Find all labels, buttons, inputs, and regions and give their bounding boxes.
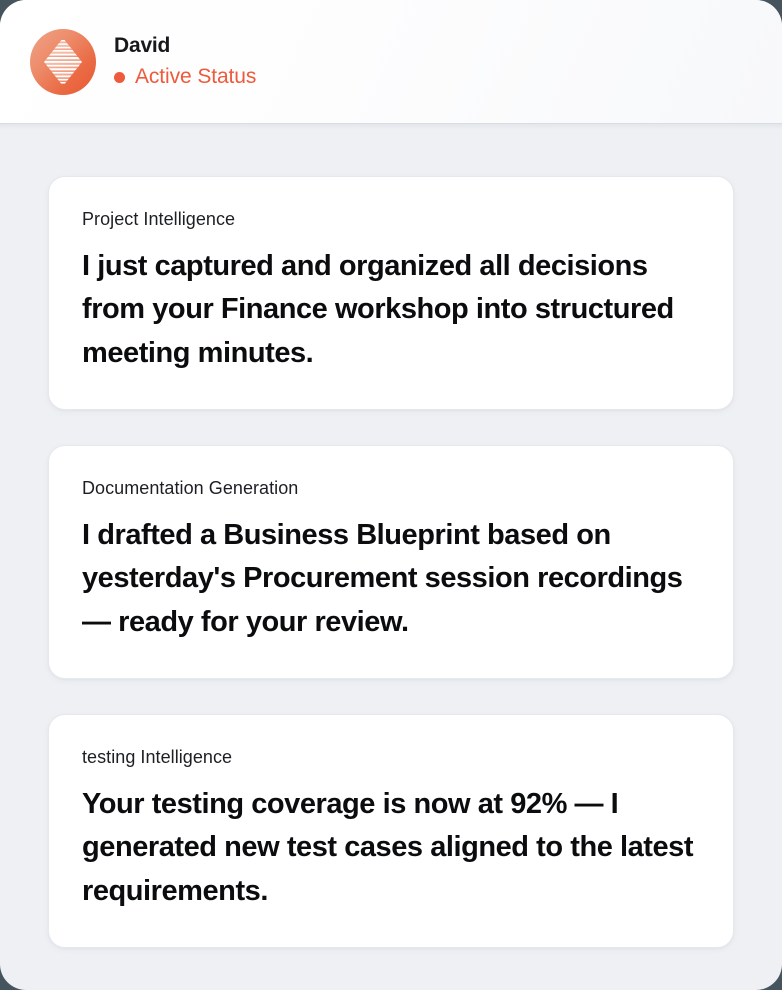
card-category: Documentation Generation: [82, 478, 700, 500]
card-message: Your testing coverage is now at 92% — I …: [82, 783, 700, 914]
updates-feed: Project Intelligence I just captured and…: [0, 124, 782, 948]
update-card[interactable]: Documentation Generation I drafted a Bus…: [48, 445, 734, 679]
card-category: Project Intelligence: [82, 209, 700, 231]
card-message: I just captured and organized all decisi…: [82, 245, 700, 376]
update-card[interactable]: testing Intelligence Your testing covera…: [48, 714, 734, 948]
profile-status-label: Active Status: [135, 65, 256, 89]
update-card[interactable]: Project Intelligence I just captured and…: [48, 176, 734, 410]
card-message: I drafted a Business Blueprint based on …: [82, 514, 700, 645]
app-frame: David Active Status Project Intelligence…: [0, 0, 782, 990]
striped-diamond-avatar-icon: [30, 29, 96, 95]
card-category: testing Intelligence: [82, 747, 700, 769]
avatar[interactable]: [30, 29, 96, 95]
profile-status: Active Status: [114, 65, 256, 89]
profile-name: David: [114, 34, 256, 58]
profile-header: David Active Status: [0, 0, 782, 124]
status-dot-icon: [114, 72, 125, 83]
profile-text: David Active Status: [114, 34, 256, 89]
